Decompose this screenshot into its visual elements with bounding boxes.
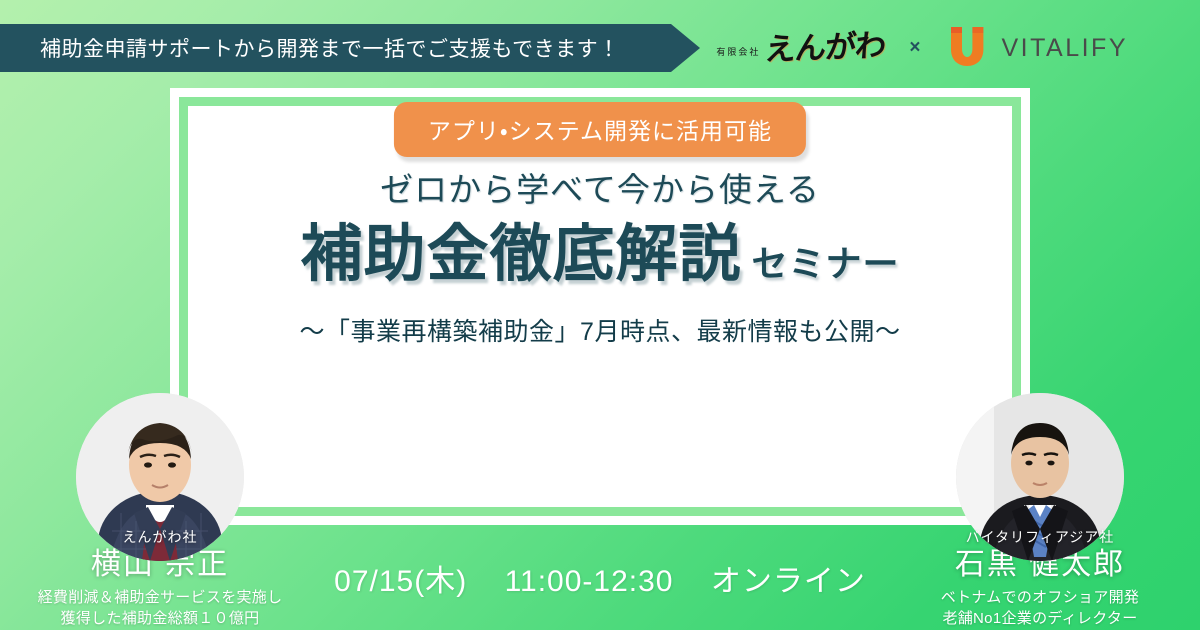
headline-subtitle: ～「事業再構築補助金」7月時点、最新情報も公開～ xyxy=(0,312,1200,348)
engawa-logo-prefix: 有限会社 xyxy=(716,45,760,64)
speaker-desc-line-1: ベトナムでのオフショア開発 xyxy=(890,587,1190,609)
vitalify-wordmark: VITALIFY xyxy=(1001,34,1128,63)
event-date: 07/15(木) xyxy=(334,565,467,598)
logo-group: 有限会社 えんがわ × VITALIFY xyxy=(716,22,1128,74)
event-time: 11:00-12:30 xyxy=(505,565,674,598)
engawa-logo: 有限会社 えんがわ xyxy=(716,33,885,64)
engawa-logo-name: えんがわ xyxy=(764,30,887,65)
headline-seminar-suffix: セミナー xyxy=(752,246,900,286)
speaker-description: ベトナムでのオフショア開発 老舗No1企業のディレクター xyxy=(890,587,1190,630)
headline-block: ゼロから学べて今から使える 補助金徹底解説 セミナー ～「事業再構築補助金」7月… xyxy=(0,170,1200,348)
event-format: オンライン xyxy=(711,565,866,598)
speaker-company: バイタリフィアジア社 xyxy=(890,527,1190,547)
header-ribbon: 補助金申請サポートから開発まで一括でご支援もできます！ xyxy=(0,24,700,72)
speaker-desc-line-1: 経費削減＆補助金サービスを実施し xyxy=(10,587,310,609)
page-title: 補助金徹底解説 xyxy=(300,224,741,286)
speaker-desc-line-2: 老舗No1企業のディレクター xyxy=(890,608,1190,630)
vitalify-logo: VITALIFY xyxy=(944,23,1128,74)
speaker-company: えんがわ社 xyxy=(10,527,310,547)
speaker-description: 経費削減＆補助金サービスを実施し 獲得した補助金総額１０億円 xyxy=(10,587,310,630)
headline-main-row: 補助金徹底解説 セミナー xyxy=(0,224,1200,286)
logo-separator-x-icon: × xyxy=(909,37,920,59)
speaker-right: バイタリフィアジア社 石黒 健太郎 ベトナムでのオフショア開発 老舗No1企業の… xyxy=(890,393,1190,630)
speaker-left: えんがわ社 横山 宗正 経費削減＆補助金サービスを実施し 獲得した補助金総額１０… xyxy=(10,393,310,630)
speaker-desc-line-2: 獲得した補助金総額１０億円 xyxy=(10,608,310,630)
headline-pre-text: ゼロから学べて今から使える xyxy=(0,170,1200,210)
feature-badge: アプリ・システム開発に活用可能 xyxy=(394,102,806,157)
ribbon-label: 補助金申請サポートから開発まで一括でご支援もできます！ xyxy=(0,33,620,63)
vitalify-u-icon xyxy=(944,23,990,74)
